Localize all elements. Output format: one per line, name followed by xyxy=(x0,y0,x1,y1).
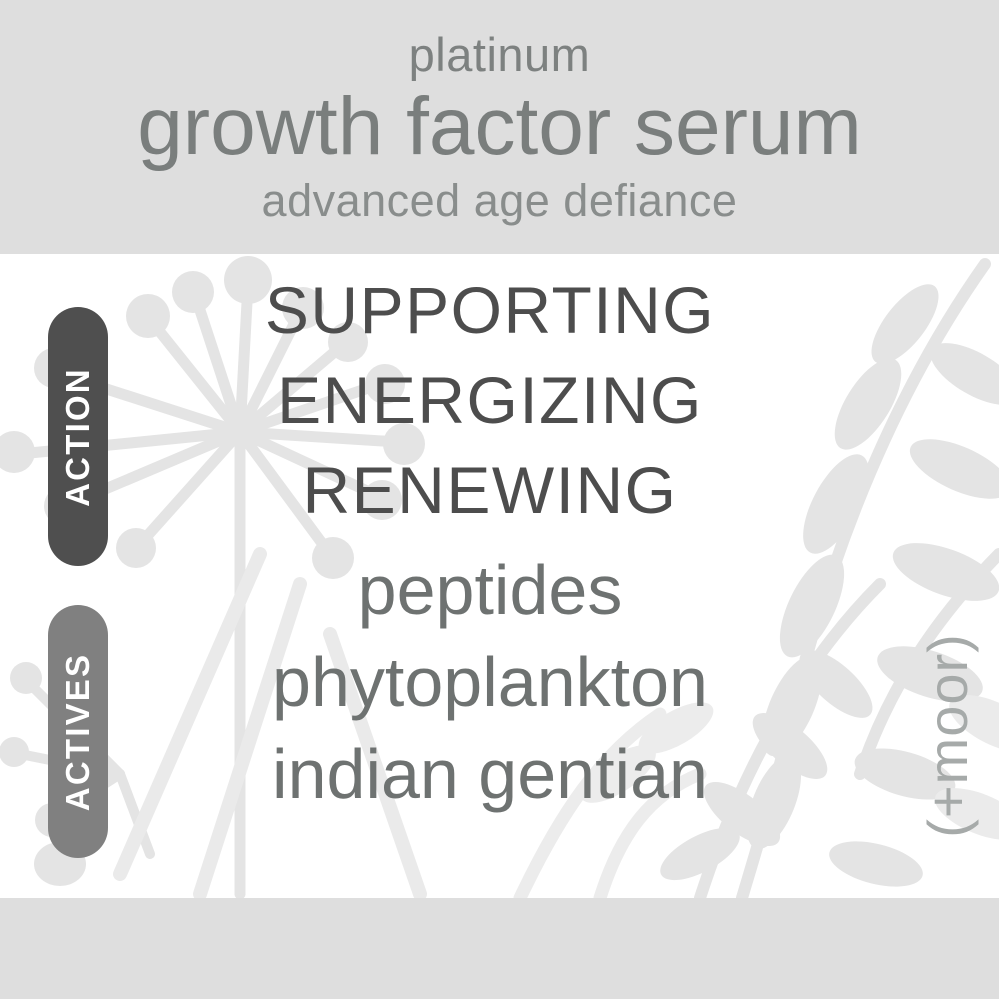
actives-list: peptides phytoplankton indian gentian xyxy=(140,545,840,820)
brand-eyebrow: platinum xyxy=(409,31,591,78)
side-note-label: (+moor) xyxy=(915,633,980,838)
tab-action: ACTION xyxy=(48,307,108,566)
footer-band xyxy=(0,898,999,999)
content-area: SUPPORTING ENERGIZING RENEWING peptides … xyxy=(140,266,840,886)
tab-actives-label: ACTIVES xyxy=(59,652,97,810)
list-item: RENEWING xyxy=(140,446,840,536)
tab-action-label: ACTION xyxy=(59,367,97,507)
list-item: peptides xyxy=(140,545,840,637)
tab-actives: ACTIVES xyxy=(48,605,108,858)
list-item: indian gentian xyxy=(140,729,840,821)
product-subtitle: advanced age defiance xyxy=(262,178,738,223)
action-list: SUPPORTING ENERGIZING RENEWING xyxy=(140,266,840,535)
list-item: phytoplankton xyxy=(140,637,840,729)
product-label: platinum growth factor serum advanced ag… xyxy=(0,0,999,999)
list-item: ENERGIZING xyxy=(140,356,840,446)
side-note: (+moor) xyxy=(899,600,995,870)
list-item: SUPPORTING xyxy=(140,266,840,356)
header-band: platinum growth factor serum advanced ag… xyxy=(0,0,999,254)
product-title: growth factor serum xyxy=(137,84,862,170)
